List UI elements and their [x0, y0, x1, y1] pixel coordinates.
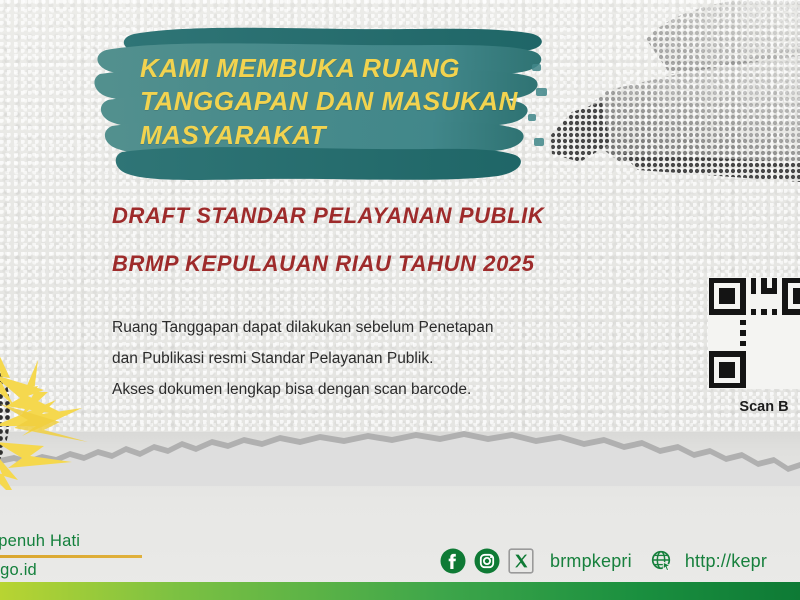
banner-line-1: KAMI MEMBUKA RUANG	[140, 52, 540, 85]
yellow-lightning-burst-icon	[0, 330, 98, 490]
footer-social-block: brmpkepri http://kepr	[440, 548, 767, 574]
x-twitter-icon[interactable]	[508, 548, 534, 574]
globe-cursor-icon[interactable]	[650, 549, 674, 573]
facebook-icon[interactable]	[440, 548, 466, 574]
headline-line-2: BRMP KEPULAUAN RIAU TAHUN 2025	[112, 253, 592, 275]
body-paragraph: Ruang Tanggapan dapat dilakukan sebelum …	[112, 312, 632, 405]
qr-code[interactable]	[708, 277, 800, 389]
social-handle: brmpkepri	[550, 551, 632, 572]
headline-line-1: DRAFT STANDAR PELAYANAN PUBLIK	[112, 205, 592, 227]
footer-divider	[0, 555, 142, 558]
body-line-2: dan Publikasi resmi Standar Pelayanan Pu…	[112, 343, 632, 374]
draft-headline: DRAFT STANDAR PELAYANAN PUBLIK BRMP KEPU…	[112, 205, 592, 275]
halftone-megaphone-icon	[550, 0, 800, 199]
instagram-icon[interactable]	[474, 548, 500, 574]
footer-site-url: anian.go.id	[0, 561, 184, 580]
footer-brand-block: rja Sepenuh Hati anian.go.id	[0, 532, 184, 580]
banner-headline: KAMI MEMBUKA RUANG TANGGAPAN DAN MASUKAN…	[140, 52, 540, 152]
footer-tagline: rja Sepenuh Hati	[0, 532, 184, 551]
website-url[interactable]: http://kepr	[685, 551, 767, 572]
qr-block: Scan B	[708, 277, 800, 415]
footer-green-bar	[0, 582, 800, 600]
body-line-3: Akses dokumen lengkap bisa dengan scan b…	[112, 374, 632, 405]
poster-canvas: KAMI MEMBUKA RUANG TANGGAPAN DAN MASUKAN…	[0, 0, 800, 600]
banner-line-3: MASYARAKAT	[140, 119, 540, 152]
banner-line-2: TANGGAPAN DAN MASUKAN	[140, 85, 540, 118]
body-line-1: Ruang Tanggapan dapat dilakukan sebelum …	[112, 312, 632, 343]
qr-label: Scan B	[708, 399, 800, 415]
